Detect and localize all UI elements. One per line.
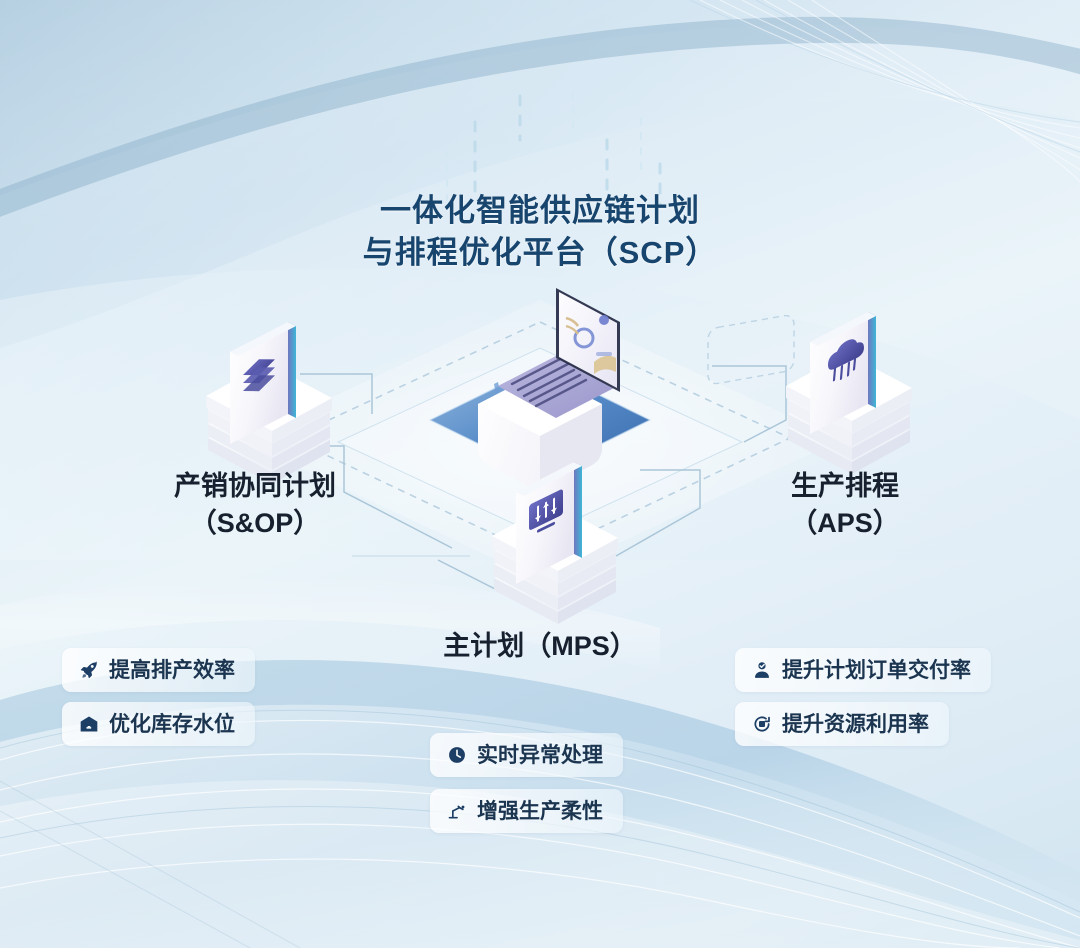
infographic-canvas: 一体化智能供应链计划 与排程优化平台（SCP） xyxy=(0,0,1080,948)
benefit-pill-1[interactable]: 优化库存水位 xyxy=(62,702,255,746)
user-check-icon xyxy=(751,659,773,681)
rocket-icon xyxy=(78,659,100,681)
benefit-label-3: 增强生产柔性 xyxy=(477,801,603,822)
benefit-pill-0[interactable]: 提高排产效率 xyxy=(62,648,255,692)
warehouse-icon xyxy=(78,713,100,735)
node-sop-code: （S&OP） xyxy=(100,505,410,542)
node-mps-name: 主计划（MPS） xyxy=(443,631,637,661)
benefit-pill-4[interactable]: 提升计划订单交付率 xyxy=(735,648,991,692)
benefit-pill-3[interactable]: 增强生产柔性 xyxy=(430,789,623,833)
node-label-mps: 主计划（MPS） xyxy=(390,628,690,665)
node-aps-code: （APS） xyxy=(700,505,990,542)
benefit-label-4: 提升计划订单交付率 xyxy=(782,660,971,681)
benefit-pill-5[interactable]: 提升资源利用率 xyxy=(735,702,949,746)
benefit-pill-2[interactable]: 实时异常处理 xyxy=(430,733,623,777)
clock-icon xyxy=(446,744,468,766)
node-aps-name: 生产排程 xyxy=(791,471,899,501)
node-sop-graphic xyxy=(206,322,332,484)
node-label-sop: 产销协同计划 （S&OP） xyxy=(100,468,410,542)
benefit-label-0: 提高排产效率 xyxy=(109,660,235,681)
benefit-label-5: 提升资源利用率 xyxy=(782,714,929,735)
node-sop-name: 产销协同计划 xyxy=(174,471,336,501)
robot-arm-icon xyxy=(446,800,468,822)
node-label-aps: 生产排程 （APS） xyxy=(700,468,990,542)
benefit-label-1: 优化库存水位 xyxy=(109,714,235,735)
recycle-gear-icon xyxy=(751,713,773,735)
benefit-label-2: 实时异常处理 xyxy=(477,745,603,766)
